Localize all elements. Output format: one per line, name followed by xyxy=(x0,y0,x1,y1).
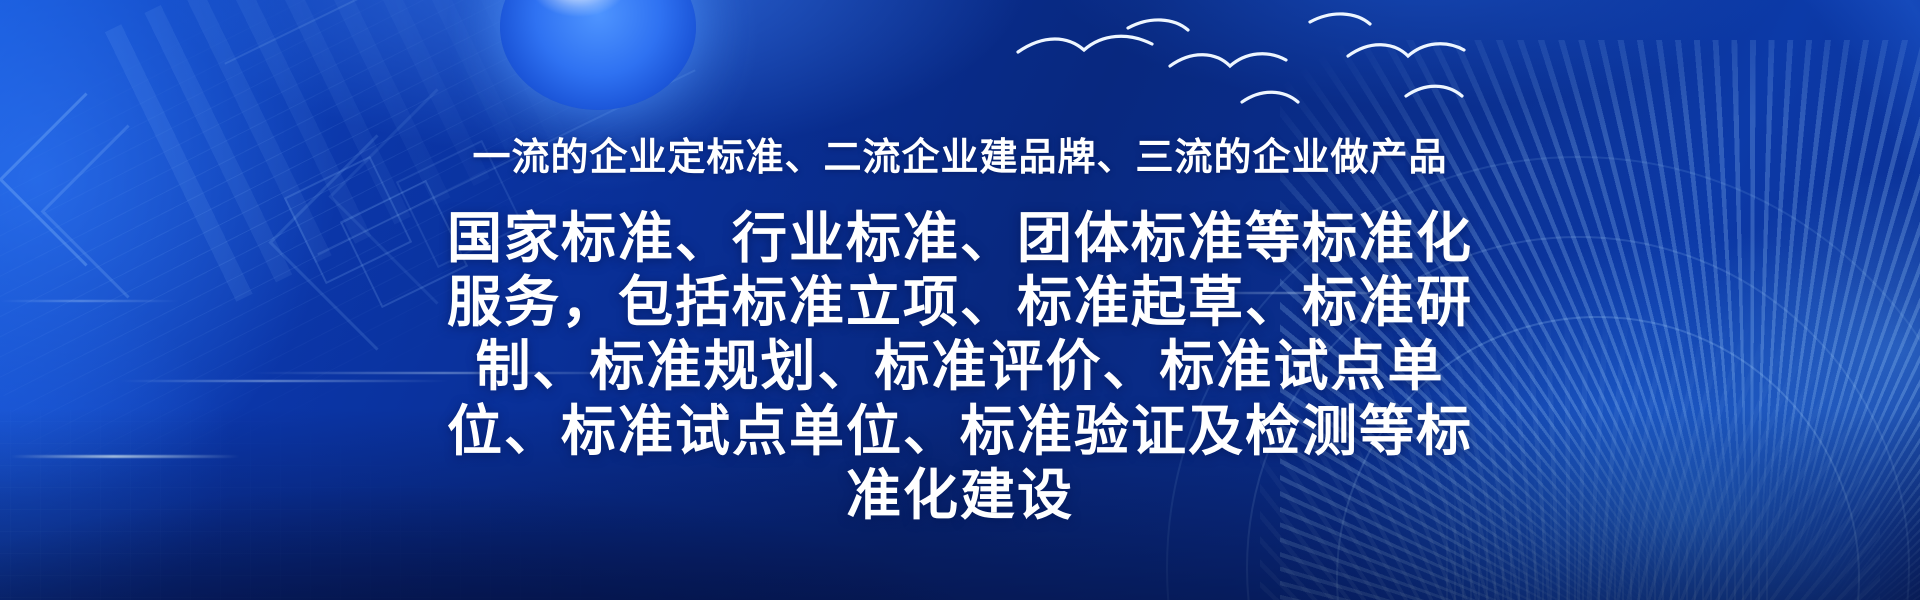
banner-headline: 一流的企业定标准、二流企业建品牌、三流的企业做产品 xyxy=(0,0,1920,180)
banner-text-block: 一流的企业定标准、二流企业建品牌、三流的企业做产品 国家标准、行业标准、团体标准… xyxy=(0,0,1920,528)
banner-body-text: 国家标准、行业标准、团体标准等标准化服务，包括标准立项、标准起草、标准研制、标准… xyxy=(440,206,1480,528)
promo-banner: 一流的企业定标准、二流企业建品牌、三流的企业做产品 国家标准、行业标准、团体标准… xyxy=(0,0,1920,600)
